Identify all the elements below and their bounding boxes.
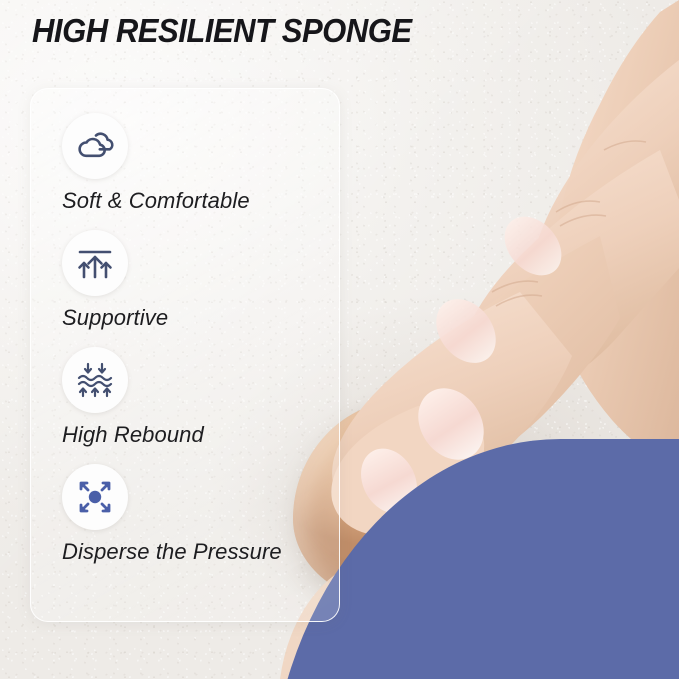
feature-label: Soft & Comfortable bbox=[62, 188, 340, 214]
cloud-icon bbox=[62, 113, 128, 179]
product-feature-poster: HIGH RESILIENT SPONGE Soft & Comfortable bbox=[0, 0, 679, 679]
feature-list: Soft & Comfortable Supportive bbox=[30, 88, 340, 622]
feature-item-soft-comfortable: Soft & Comfortable bbox=[62, 113, 340, 214]
disperse-pressure-icon bbox=[62, 464, 128, 530]
feature-item-disperse-pressure: Disperse the Pressure bbox=[62, 464, 340, 565]
feature-item-high-rebound: High Rebound bbox=[62, 347, 340, 448]
feature-label: High Rebound bbox=[62, 422, 340, 448]
rebound-waves-icon bbox=[62, 347, 128, 413]
page-title: HIGH RESILIENT SPONGE bbox=[32, 14, 412, 47]
feature-item-supportive: Supportive bbox=[62, 230, 340, 331]
feature-label: Supportive bbox=[62, 305, 340, 331]
feature-label: Disperse the Pressure bbox=[62, 539, 340, 565]
up-arrows-support-icon bbox=[62, 230, 128, 296]
